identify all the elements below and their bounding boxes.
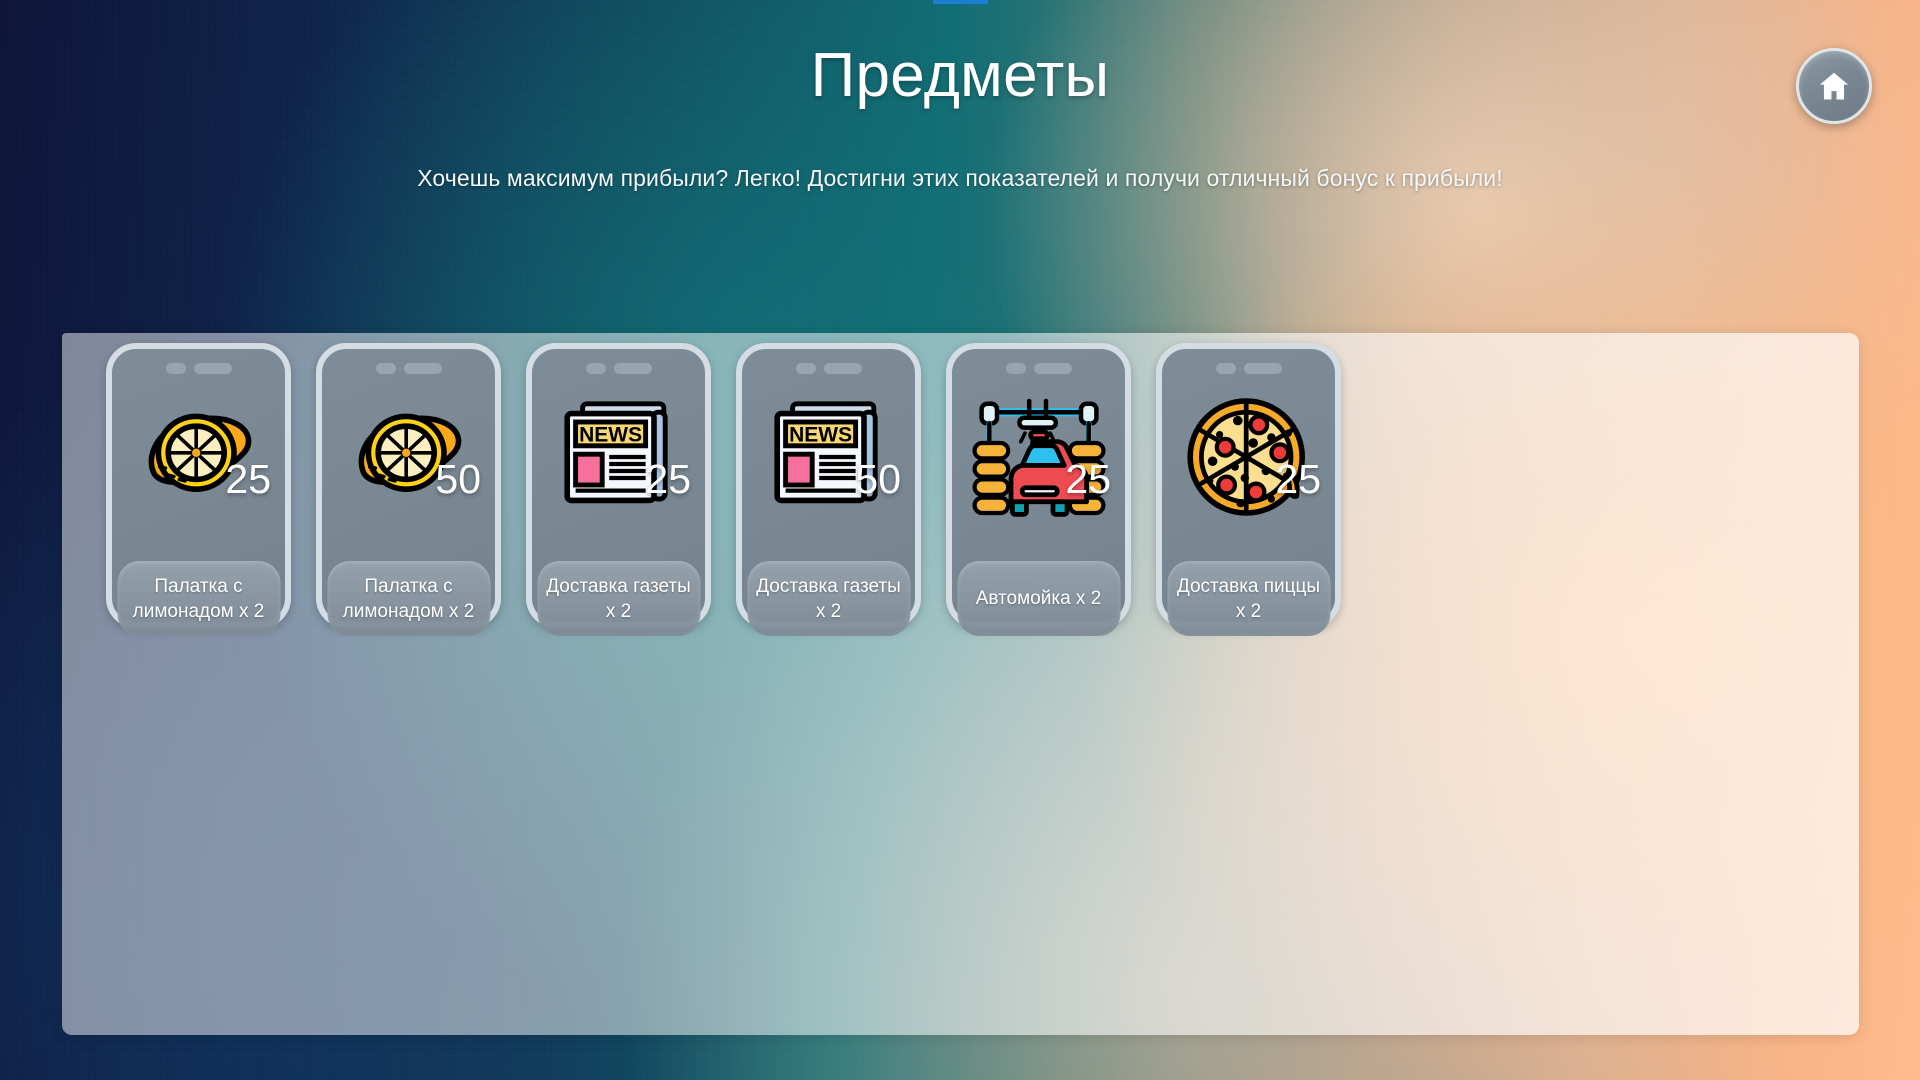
card-notch — [376, 363, 442, 374]
notch-bar-icon — [614, 363, 652, 374]
items-panel: 25 Палатка с лимонадом х 2 — [62, 333, 1859, 1035]
notch-dot-icon — [376, 363, 396, 374]
notch-bar-icon — [1034, 363, 1072, 374]
notch-dot-icon — [586, 363, 606, 374]
newspaper-icon: NEWS — [532, 381, 705, 533]
notch-bar-icon — [824, 363, 862, 374]
lemon-icon — [322, 381, 495, 533]
item-card[interactable]: NEWS 25 Доставка газеты х 2 — [526, 343, 711, 628]
top-accent-line — [933, 0, 988, 4]
item-card-grid: 25 Палатка с лимонадом х 2 — [106, 343, 1341, 628]
notch-dot-icon — [166, 363, 186, 374]
pizza-icon — [1162, 381, 1335, 533]
notch-bar-icon — [404, 363, 442, 374]
carwash-icon — [952, 381, 1125, 533]
item-label: Палатка с лимонадом х 2 — [117, 561, 280, 636]
notch-bar-icon — [1244, 363, 1282, 374]
news-headline-text: NEWS — [579, 424, 642, 447]
item-label: Доставка газеты х 2 — [537, 561, 700, 636]
page-subtitle: Хочешь максимум прибыли? Легко! Достигни… — [0, 165, 1920, 192]
page-title: Предметы — [0, 40, 1920, 111]
home-icon — [1816, 68, 1852, 104]
notch-dot-icon — [1216, 363, 1236, 374]
card-notch — [1006, 363, 1072, 374]
notch-bar-icon — [194, 363, 232, 374]
item-card[interactable]: 25 Доставка пиццы х 2 — [1156, 343, 1341, 628]
card-notch — [166, 363, 232, 374]
card-notch — [586, 363, 652, 374]
news-headline-text: NEWS — [789, 424, 852, 447]
item-card[interactable]: NEWS 50 Доставка газеты х 2 — [736, 343, 921, 628]
home-button[interactable] — [1796, 48, 1872, 124]
notch-dot-icon — [1006, 363, 1026, 374]
item-label: Доставка пиццы х 2 — [1167, 561, 1330, 636]
item-card[interactable]: 25 Палатка с лимонадом х 2 — [106, 343, 291, 628]
lemon-icon — [112, 381, 285, 533]
item-card[interactable]: 50 Палатка с лимонадом х 2 — [316, 343, 501, 628]
item-label: Автомойка х 2 — [957, 561, 1120, 636]
newspaper-icon: NEWS — [742, 381, 915, 533]
item-card[interactable]: 25 Автомойка х 2 — [946, 343, 1131, 628]
card-notch — [1216, 363, 1282, 374]
item-label: Палатка с лимонадом х 2 — [327, 561, 490, 636]
notch-dot-icon — [796, 363, 816, 374]
card-notch — [796, 363, 862, 374]
item-label: Доставка газеты х 2 — [747, 561, 910, 636]
